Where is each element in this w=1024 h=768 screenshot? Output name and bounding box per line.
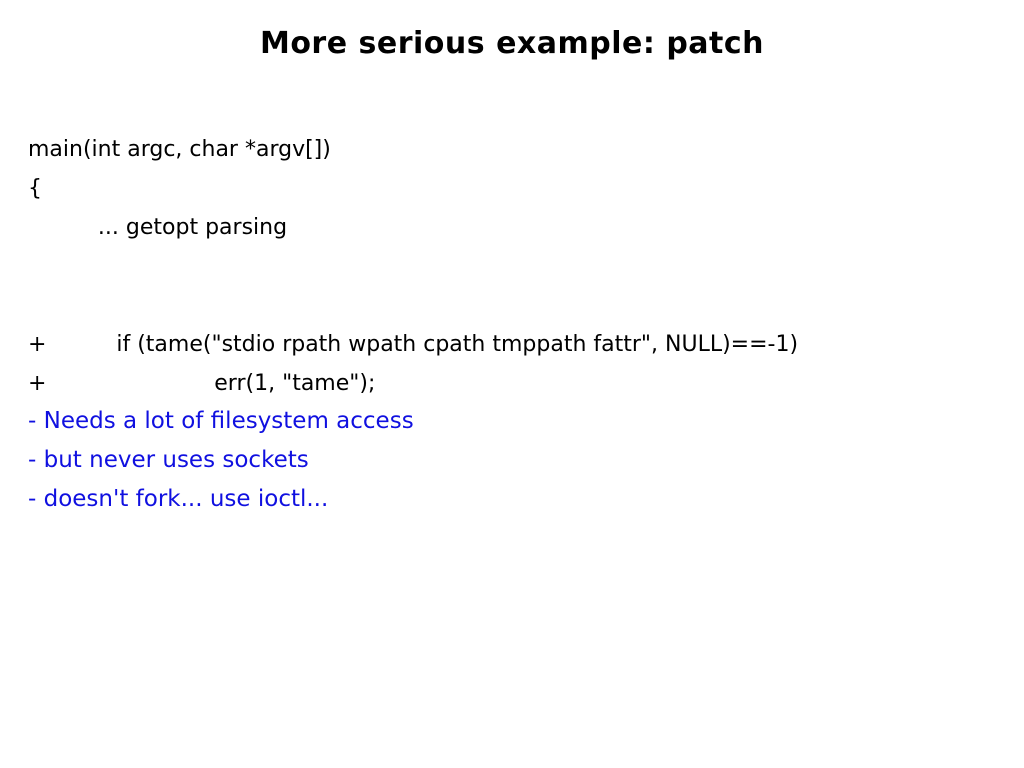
list-item: - but never uses sockets [28, 441, 1008, 480]
slide: More serious example: patch main(int arg… [0, 0, 1024, 768]
bullet-list: - Needs a lot of filesystem access - but… [28, 402, 1008, 519]
code-line: main(int argc, char *argv[]) [28, 130, 1008, 169]
list-item: - Needs a lot of filesystem access [28, 402, 1008, 441]
code-block: main(int argc, char *argv[]) { ... getop… [28, 130, 1008, 403]
code-line-blank [28, 247, 1008, 286]
code-line: ... getopt parsing [28, 208, 1008, 247]
code-line-added-err: + err(1, "tame"); [28, 364, 1008, 403]
code-line-blank [28, 286, 1008, 325]
code-line: { [28, 169, 1008, 208]
list-item: - doesn't fork... use ioctl... [28, 480, 1008, 519]
code-line-added-tame: + if (tame("stdio rpath wpath cpath tmpp… [28, 325, 1008, 364]
page-title: More serious example: patch [0, 26, 1024, 61]
